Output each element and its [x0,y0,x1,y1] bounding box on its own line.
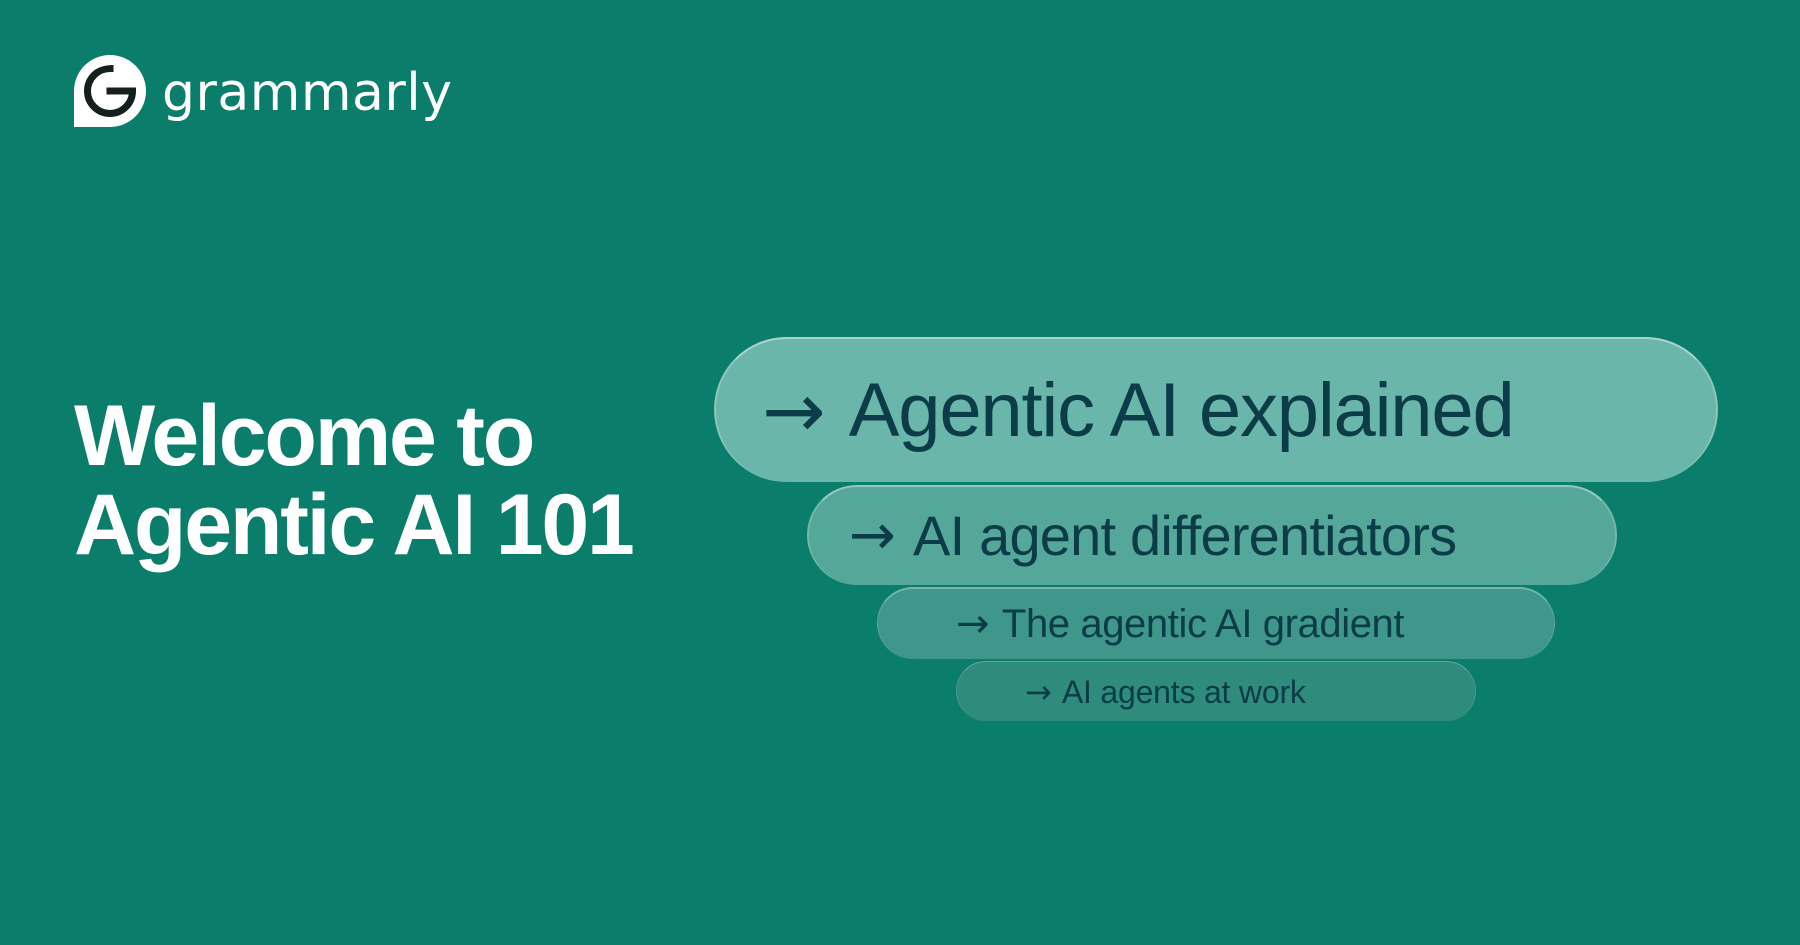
arrow-right-icon: → [1025,676,1052,708]
agenda-item-agentic-ai-explained[interactable]: → Agentic AI explained [714,337,1718,482]
agenda-item-ai-agent-differentiators[interactable]: → AI agent differentiators [807,485,1617,585]
agenda-item-ai-agents-at-work[interactable]: → AI agents at work [956,661,1476,721]
grammarly-g-logo-icon [74,55,146,127]
arrow-right-icon: → [956,604,989,644]
agenda-item-label: AI agent differentiators [913,508,1456,564]
page-title-line-2: Agentic AI 101 [74,481,694,570]
agenda-item-label: AI agents at work [1062,676,1306,708]
agenda-item-the-agentic-ai-gradient[interactable]: → The agentic AI gradient [877,587,1555,659]
agenda-item-label: Agentic AI explained [849,373,1514,449]
page-title-line-1: Welcome to [74,392,694,481]
arrow-right-icon: → [849,508,895,564]
page-title: Welcome to Agentic AI 101 [74,392,694,571]
grammarly-logo-lockup[interactable]: grammarly [74,55,453,127]
arrow-right-icon: → [762,373,824,449]
agenda-item-label: The agentic AI gradient [1002,604,1404,644]
slide-canvas: grammarly Welcome to Agentic AI 101 → Ag… [0,0,1800,945]
grammarly-wordmark: grammarly [162,67,453,119]
